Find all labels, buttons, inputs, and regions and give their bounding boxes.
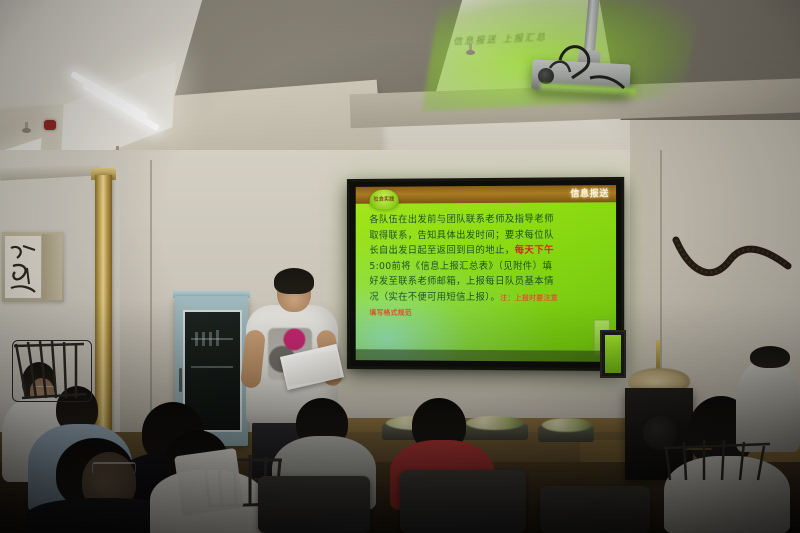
small-wall-frame	[600, 330, 626, 378]
chair[interactable]	[540, 486, 650, 533]
scroll-mount	[42, 234, 62, 300]
projector-cables	[520, 38, 630, 98]
planter-flowers	[542, 418, 592, 432]
slide-line-with-note: 况（实在不便可用短信上报）。注：上报时要注意	[369, 289, 603, 306]
fire-alarm-icon	[44, 120, 56, 130]
cabinet-shelf	[191, 366, 233, 368]
slide-banner-title: 信息报送	[570, 186, 609, 199]
slide-line: 5:00前将《信息上报汇总表》（见附件）填	[369, 258, 603, 274]
projection-screen: 信息报送 社会实践 各队伍在出发前与团队联系老师及指导老师 取得联系，告知具体出…	[347, 177, 624, 371]
slide-content: 信息报送 社会实践 各队伍在出发前与团队联系老师及指导老师 取得联系，告知具体出…	[356, 185, 616, 362]
slide-note-text: 注：上报时要注意	[500, 294, 558, 302]
slide-line: 好发至联系老师邮箱，上报每日队员基本情	[369, 274, 603, 290]
chair-wire-frame	[660, 432, 790, 488]
calligraphy-strokes-icon	[5, 236, 41, 298]
chair[interactable]	[400, 470, 526, 533]
slide-emphasis-text: 每天下午	[515, 245, 554, 256]
slide-line-part: 长自出发日起至返回到目的地止，	[369, 245, 514, 256]
slide-logo-text: 社会实践	[369, 196, 398, 203]
sprinkler-icon	[22, 122, 31, 134]
cabinet-item	[209, 332, 212, 346]
planter-flowers	[466, 416, 524, 430]
chair[interactable]	[258, 476, 370, 533]
slide-line: 各队伍在出发前与团队联系老师及指导老师	[369, 211, 603, 228]
cabinet-item	[202, 332, 205, 346]
head	[750, 346, 790, 368]
cabinet-item	[195, 332, 198, 346]
slide-bottom-shadow	[356, 349, 616, 362]
glasses-icon	[92, 462, 136, 474]
cabinet-handle[interactable]	[179, 368, 182, 392]
calligraphy-scroll	[2, 232, 64, 302]
sprinkler-icon	[466, 44, 475, 56]
cabinet-item	[216, 330, 219, 346]
slide-logo-badge: 社会实践	[369, 190, 398, 210]
slide-body-text: 各队伍在出发前与团队联系老师及指导老师 取得联系，告知具体出发时间；要求每位队 …	[369, 211, 603, 322]
slide-line-with-emphasis: 长自出发日起至返回到目的地止，每天下午	[369, 243, 603, 259]
slide-line-part: 况（实在不便可用短信上报）。	[369, 291, 500, 302]
scroll-paper	[5, 236, 41, 298]
slide-line: 取得联系，告知具体出发时间；要求每位队	[369, 227, 603, 243]
paper-sheet	[174, 448, 244, 516]
chair-wire-frame	[10, 336, 94, 406]
presenter-glasses-icon	[288, 288, 310, 294]
photo-scene: 信息报送 上报汇总	[0, 0, 800, 533]
slide-note-text-2: 填写格式规范	[369, 306, 603, 322]
wall-garland	[672, 232, 792, 280]
